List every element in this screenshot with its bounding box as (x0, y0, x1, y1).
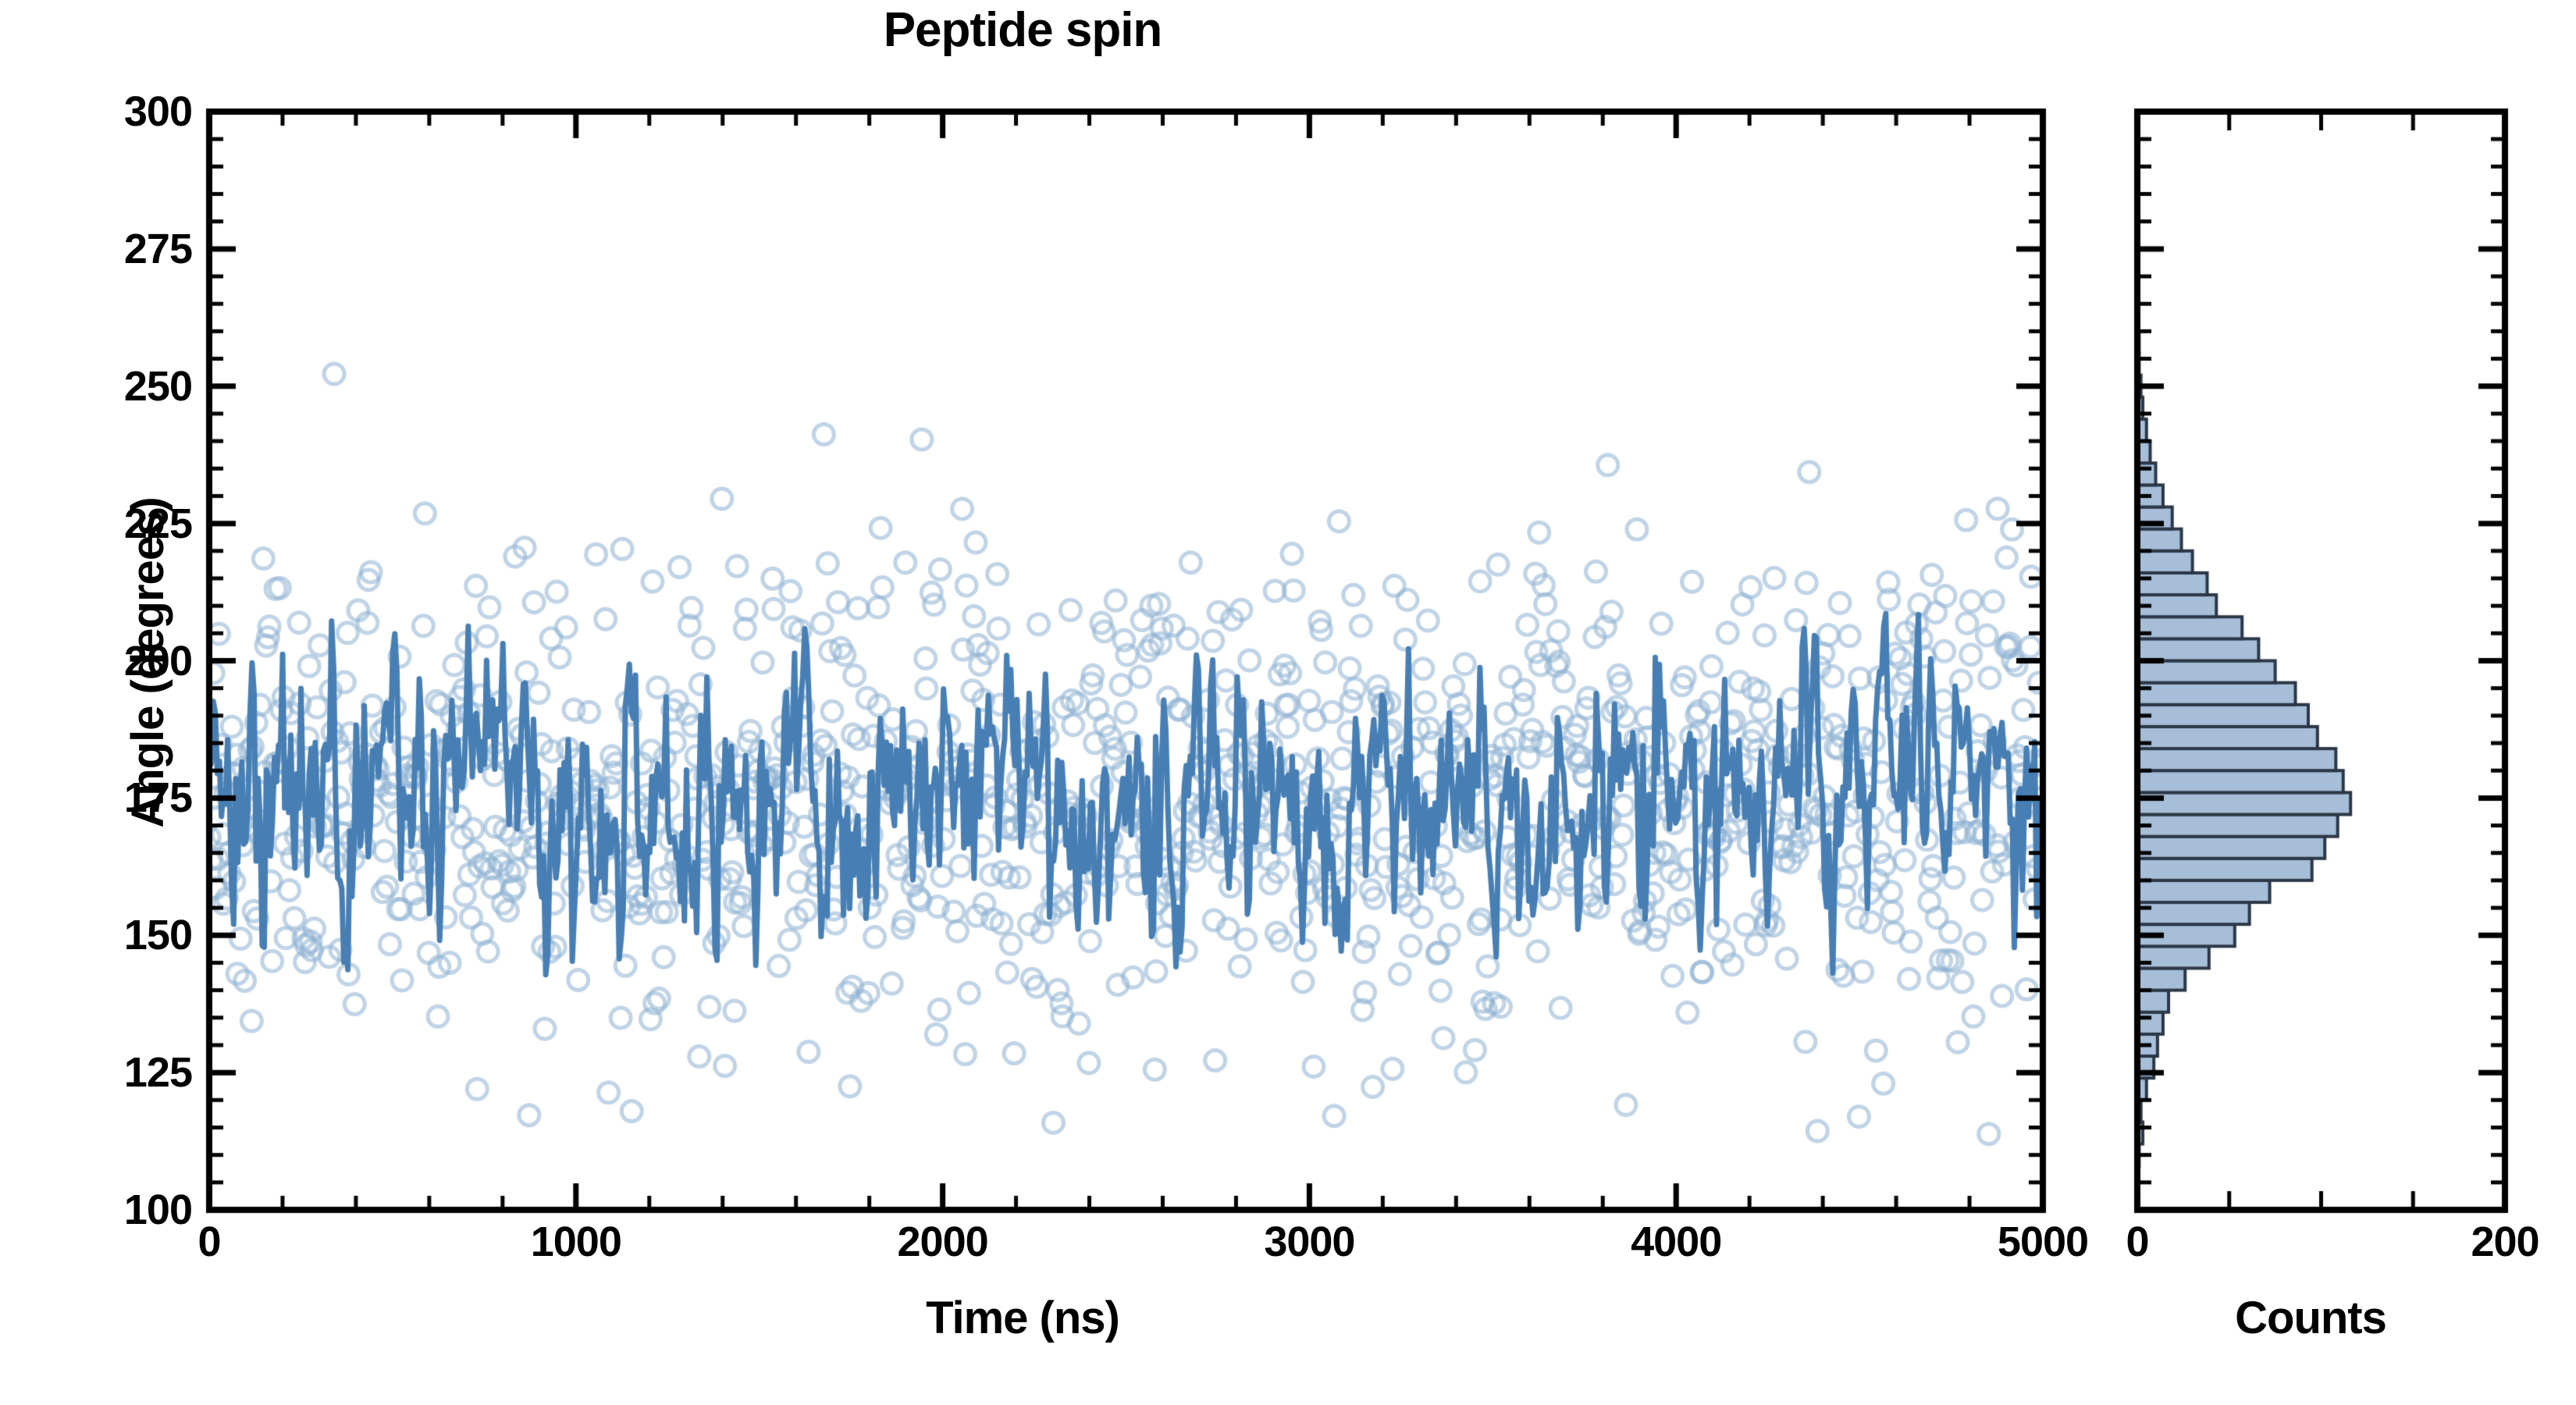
y-tick-label-275: 275 (12, 228, 192, 270)
y-tick-label-200: 200 (12, 640, 192, 682)
hist-x-tick-label-200: 200 (2388, 1221, 2576, 1263)
page-title: Peptide spin (0, 6, 2045, 55)
y-tick-label-225: 225 (12, 503, 192, 545)
figure-root: Peptide spin Time (ns) Angle (degrees) C… (0, 0, 2576, 1405)
x-tick-label-1000: 1000 (459, 1221, 693, 1263)
y-tick-label-175: 175 (12, 777, 192, 819)
x-tick-label-2000: 2000 (826, 1221, 1060, 1263)
y-tick-label-250: 250 (12, 365, 192, 407)
x-tick-label-4000: 4000 (1559, 1221, 1793, 1263)
plot-canvas (0, 0, 2576, 1405)
y-tick-label-150: 150 (12, 914, 192, 956)
hist-x-axis-label: Counts (2092, 1296, 2529, 1341)
hist-x-tick-label-0: 0 (2020, 1221, 2254, 1263)
x-axis-label: Time (ns) (0, 1296, 2045, 1341)
y-tick-label-125: 125 (12, 1051, 192, 1094)
y-tick-label-300: 300 (12, 91, 192, 133)
x-tick-label-0: 0 (92, 1221, 326, 1263)
x-tick-label-3000: 3000 (1192, 1221, 1426, 1263)
